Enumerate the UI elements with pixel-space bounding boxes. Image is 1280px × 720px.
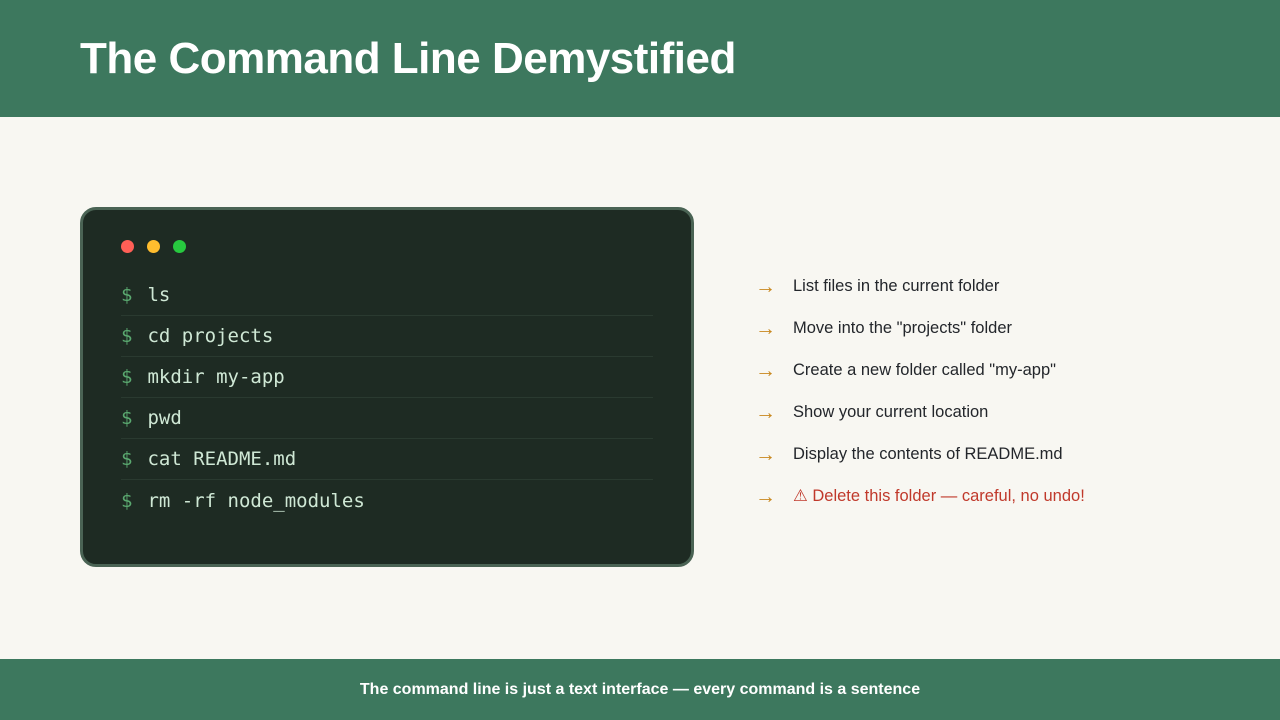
prompt-symbol: $ xyxy=(121,366,132,388)
arrow-right-icon: → xyxy=(755,486,793,507)
command-row: $ rm -rf node_modules xyxy=(121,480,653,521)
command-text: cd projects xyxy=(147,325,273,347)
command-list: $ ls $ cd projects $ mkdir my-app $ pwd … xyxy=(121,275,653,521)
explanation-text: Move into the "projects" folder xyxy=(793,319,1012,338)
prompt-symbol: $ xyxy=(121,325,132,347)
minimize-icon[interactable] xyxy=(147,240,160,253)
command-row: $ ls xyxy=(121,275,653,316)
command-row: $ mkdir my-app xyxy=(121,357,653,398)
command-text: cat README.md xyxy=(147,448,296,470)
terminal-traffic-lights xyxy=(121,240,653,253)
explanation-text: Display the contents of README.md xyxy=(793,445,1063,464)
explanation-list: → List files in the current folder → Mov… xyxy=(755,265,1225,517)
explanation-row: → Move into the "projects" folder xyxy=(755,307,1225,349)
prompt-symbol: $ xyxy=(121,407,132,429)
arrow-right-icon: → xyxy=(755,360,793,381)
explanation-row-warning: → ⚠ Delete this folder — careful, no und… xyxy=(755,475,1225,517)
explanation-text-warning: ⚠ Delete this folder — careful, no undo! xyxy=(793,486,1085,506)
command-text: rm -rf node_modules xyxy=(147,490,364,512)
prompt-symbol: $ xyxy=(121,490,132,512)
page-title: The Command Line Demystified xyxy=(80,37,736,81)
explanation-row: → Create a new folder called "my-app" xyxy=(755,349,1225,391)
explanation-text: List files in the current folder xyxy=(793,277,999,296)
arrow-right-icon: → xyxy=(755,444,793,465)
slide-header: The Command Line Demystified xyxy=(0,0,1280,117)
maximize-icon[interactable] xyxy=(173,240,186,253)
command-row: $ pwd xyxy=(121,398,653,439)
prompt-symbol: $ xyxy=(121,448,132,470)
slide-body: $ ls $ cd projects $ mkdir my-app $ pwd … xyxy=(0,117,1280,659)
command-row: $ cat README.md xyxy=(121,439,653,480)
footer-text: The command line is just a text interfac… xyxy=(360,681,920,699)
command-row: $ cd projects xyxy=(121,316,653,357)
terminal-window: $ ls $ cd projects $ mkdir my-app $ pwd … xyxy=(80,207,694,567)
close-icon[interactable] xyxy=(121,240,134,253)
slide-footer: The command line is just a text interfac… xyxy=(0,659,1280,720)
explanation-row: → List files in the current folder xyxy=(755,265,1225,307)
command-text: mkdir my-app xyxy=(147,366,284,388)
prompt-symbol: $ xyxy=(121,284,132,306)
command-text: pwd xyxy=(147,407,181,429)
arrow-right-icon: → xyxy=(755,276,793,297)
arrow-right-icon: → xyxy=(755,318,793,339)
explanation-text: Create a new folder called "my-app" xyxy=(793,361,1056,380)
command-text: ls xyxy=(147,284,170,306)
explanation-text: Show your current location xyxy=(793,403,988,422)
arrow-right-icon: → xyxy=(755,402,793,423)
explanation-row: → Display the contents of README.md xyxy=(755,433,1225,475)
explanation-row: → Show your current location xyxy=(755,391,1225,433)
